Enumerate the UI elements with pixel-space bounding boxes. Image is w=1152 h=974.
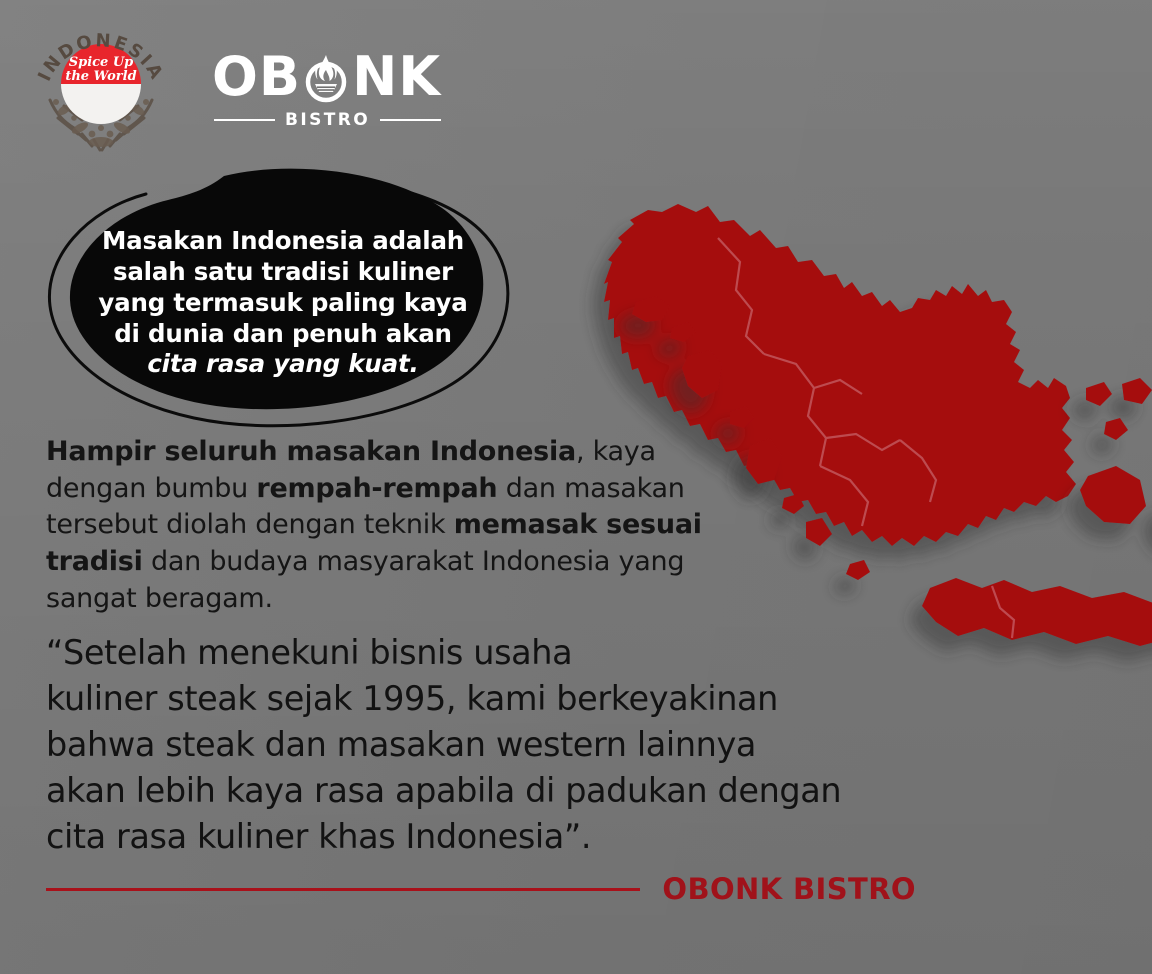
map-island-pagai bbox=[806, 518, 832, 546]
intro-paragraph: Hampir seluruh masakan Indonesia, kaya d… bbox=[46, 434, 758, 618]
intro-segment-0: Hampir seluruh masakan Indonesia bbox=[46, 436, 576, 467]
blob-line-0: Masakan Indonesia adalah bbox=[88, 226, 478, 257]
indonesia-spice-up-the-world-badge: INDONESIA Spice Up the World bbox=[34, 22, 168, 154]
quote-line-0: “Setelah menekuni bisnis usaha bbox=[46, 630, 946, 676]
map-east-islands bbox=[1080, 378, 1152, 538]
quote-line-2: bahwa steak dan masakan western lainnya bbox=[46, 722, 946, 768]
quote-line-3: akan lebih kaya rasa apabila di padukan … bbox=[46, 768, 946, 814]
signature-name: OBONK BISTRO bbox=[662, 872, 916, 906]
blob-line-1: salah satu tradisi kuliner bbox=[88, 257, 478, 288]
blob-text: Masakan Indonesia adalah salah satu trad… bbox=[88, 226, 478, 380]
quote-attribution: OBONK BISTRO bbox=[46, 872, 916, 906]
header-logos: INDONESIA Spice Up the World OB bbox=[34, 22, 441, 154]
blob-line-2: yang termasuk paling kaya bbox=[88, 288, 478, 319]
map-island-riau-b bbox=[1122, 378, 1152, 404]
blob-line-3: di dunia dan penuh akan bbox=[88, 319, 478, 350]
map-island-bangka bbox=[1080, 466, 1146, 524]
signature-rule bbox=[46, 888, 640, 891]
obonk-word-left: OB bbox=[212, 50, 301, 104]
map-island-riau-a bbox=[1086, 382, 1112, 406]
founder-quote: “Setelah menekuni bisnis usaha kuliner s… bbox=[46, 630, 946, 860]
map-java-sliver bbox=[922, 578, 1152, 646]
flame-grill-icon bbox=[303, 51, 349, 103]
badge-script-line1: Spice Up bbox=[69, 55, 134, 70]
blob-emphasis-line: cita rasa yang kuat. bbox=[88, 349, 478, 380]
intro-segment-5: dan budaya masyarakat Indonesia yang san… bbox=[46, 546, 684, 614]
obonk-subtitle: BISTRO bbox=[285, 110, 370, 130]
quote-line-4: cita rasa kuliner khas Indonesia”. bbox=[46, 814, 946, 860]
quote-line-1: kuliner steak sejak 1995, kami berkeyaki… bbox=[46, 676, 946, 722]
map-island-riau-c bbox=[1104, 418, 1128, 440]
obonk-wordmark: OB NK bbox=[212, 50, 441, 104]
intro-segment-2: rempah-rempah bbox=[256, 473, 497, 504]
obonk-subtitle-row: BISTRO bbox=[212, 110, 441, 130]
obonk-logo: OB NK bbox=[212, 50, 441, 130]
subtitle-rule-left bbox=[214, 119, 275, 121]
obonk-word-right: NK bbox=[352, 50, 441, 104]
blob-callout: Masakan Indonesia adalah salah satu trad… bbox=[28, 160, 528, 448]
poster-canvas: INDONESIA Spice Up the World OB bbox=[0, 0, 1152, 974]
map-island-enggano bbox=[846, 560, 870, 580]
subtitle-rule-right bbox=[380, 119, 441, 121]
badge-script-line2: the World bbox=[65, 69, 136, 84]
